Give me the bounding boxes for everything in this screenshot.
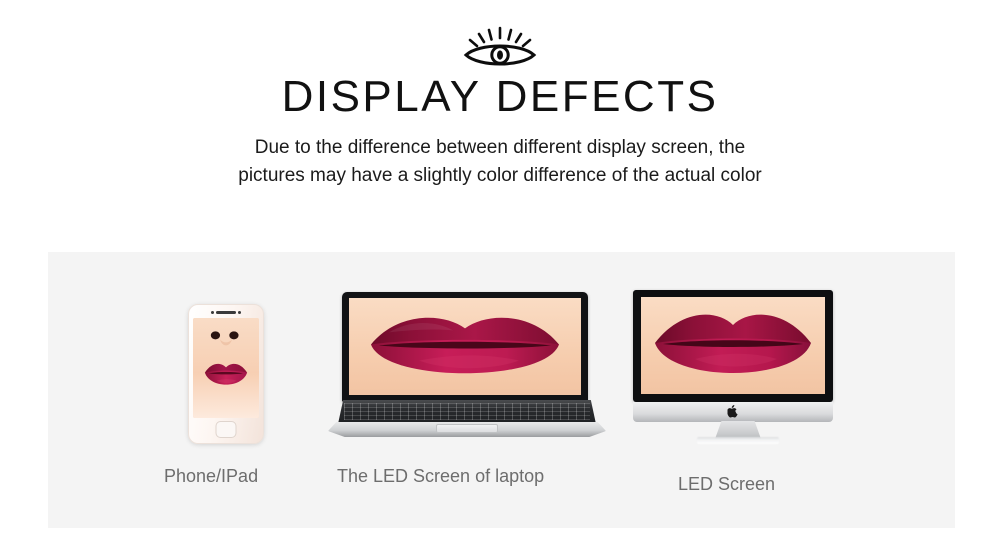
device-showcase-panel: Phone/IPad The LED Screen of laptop LED … [48,252,955,528]
caption-laptop: The LED Screen of laptop [337,466,544,487]
phone-camera-icon [238,311,241,314]
page-header: DISPLAY DEFECTS Due to the difference be… [0,0,1000,189]
laptop-trackpad[interactable] [436,424,498,433]
phone-earpiece-icon [216,311,236,314]
monitor-screen [641,297,825,394]
device-row: Phone/IPad The LED Screen of laptop LED … [48,252,955,528]
subtitle-line-2: pictures may have a slightly color diffe… [150,162,850,190]
subtitle-line-1: Due to the difference between different … [150,134,850,162]
monitor-stand-base [697,437,779,444]
laptop-lid [342,292,588,402]
caption-phone: Phone/IPad [164,466,258,487]
eye-icon [461,26,539,68]
phone-screen [193,318,259,418]
device-laptop [333,292,573,437]
phone-home-button[interactable] [216,421,237,438]
page-subtitle: Due to the difference between different … [150,134,850,189]
phone-sensor-icon [211,311,214,314]
page-title: DISPLAY DEFECTS [0,74,1000,120]
apple-logo-icon [728,405,739,418]
lips-image-monitor [641,297,825,394]
monitor-bezel [633,290,833,402]
lips-image-phone [193,318,259,418]
lips-image-laptop [349,298,581,395]
phone-body [188,304,264,444]
laptop-base [328,400,606,436]
caption-monitor: LED Screen [678,474,775,495]
monitor-chin [633,402,833,422]
device-monitor [633,290,843,440]
laptop-keyboard[interactable] [338,400,596,424]
laptop-keys [344,403,590,420]
laptop-screen [349,298,581,395]
device-phone [188,304,264,444]
